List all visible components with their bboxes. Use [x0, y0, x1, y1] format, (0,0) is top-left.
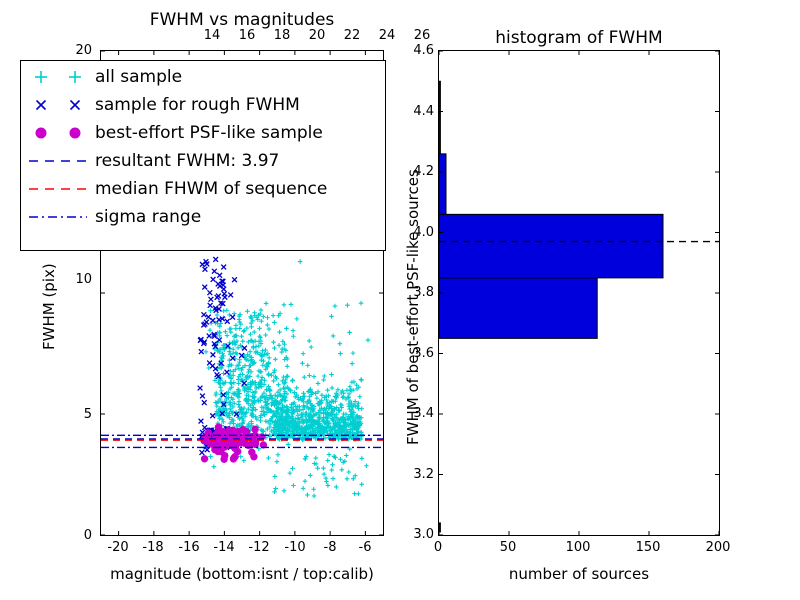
histogram-plot-title: histogram of FWHM	[438, 28, 720, 48]
dashed-line-red-icon	[21, 175, 95, 203]
scatter-y-tick-5: 5	[62, 407, 92, 422]
bottom-tick-2: -16	[169, 540, 209, 555]
bottom-tick-0: -20	[98, 540, 138, 555]
scatter-bottom-axis-ticks: -20 -18 -16 -14 -12 -10 -8 -6	[100, 540, 384, 558]
scatter-y-axis-label: FWHM (pix)	[40, 263, 58, 350]
bottom-tick-6: -8	[310, 540, 350, 555]
hist-y-tick-4.6: 4.6	[392, 43, 434, 58]
histogram-x-axis-label: number of sources	[438, 565, 720, 583]
scatter-y-tick-10: 10	[62, 272, 92, 287]
dashdot-line-icon	[21, 203, 95, 231]
bottom-tick-3: -14	[204, 540, 244, 555]
histogram-y-axis-label: FWHM of best-effort PSF-like sources	[404, 169, 422, 445]
top-tick-2: 18	[267, 28, 297, 43]
top-tick-0: 14	[197, 28, 227, 43]
legend-entry-median-fwhm: median FHWM of sequence	[21, 175, 385, 203]
legend-entry-all-sample: all sample	[21, 63, 385, 91]
hist-x-tick-100: 100	[558, 540, 598, 555]
histogram-plot-data	[439, 51, 719, 535]
top-tick-4: 22	[337, 28, 367, 43]
bottom-tick-4: -12	[239, 540, 279, 555]
hist-x-tick-0: 0	[418, 540, 458, 555]
scatter-y-top-tick: 20	[62, 43, 92, 58]
histogram-x-axis-ticks: 0 50 100 150 200	[438, 540, 720, 558]
cross-marker-icon	[21, 91, 95, 119]
scatter-x-axis-label: magnitude (bottom:isnt / top:calib)	[80, 565, 404, 583]
legend-label-sigma-range: sigma range	[95, 207, 201, 227]
hist-x-tick-150: 150	[628, 540, 668, 555]
legend: all sample sample for rough FWHM best-ef…	[20, 60, 386, 251]
legend-entry-psf-like: best-effort PSF-like sample	[21, 119, 385, 147]
legend-entry-rough-fwhm: sample for rough FWHM	[21, 91, 385, 119]
plus-marker-icon	[21, 63, 95, 91]
circle-marker-icon	[21, 119, 95, 147]
figure-canvas: FWHM vs magnitudes 14 16 18 20 22 24 26 …	[0, 0, 800, 600]
legend-entry-sigma-range: sigma range	[21, 203, 385, 231]
hist-x-tick-200: 200	[698, 540, 738, 555]
legend-label-resultant-fwhm: resultant FWHM: 3.97	[95, 151, 279, 171]
legend-label-psf-like: best-effort PSF-like sample	[95, 123, 323, 143]
scatter-y-tick-0: 0	[62, 528, 92, 543]
top-tick-1: 16	[232, 28, 262, 43]
legend-label-median-fwhm: median FHWM of sequence	[95, 179, 327, 199]
bottom-tick-7: -6	[345, 540, 385, 555]
hist-y-tick-4.4: 4.4	[392, 104, 434, 119]
legend-label-all-sample: all sample	[95, 67, 182, 87]
legend-entry-resultant-fwhm: resultant FWHM: 3.97	[21, 147, 385, 175]
top-tick-5: 24	[372, 28, 402, 43]
bottom-tick-1: -18	[133, 540, 173, 555]
legend-label-rough-fwhm: sample for rough FWHM	[95, 95, 300, 115]
scatter-plot-title: FWHM vs magnitudes	[100, 10, 384, 30]
dashed-line-blue-icon	[21, 147, 95, 175]
hist-y-tick-3.2: 3.2	[392, 467, 434, 482]
histogram-plot-axes	[438, 50, 720, 536]
bottom-tick-5: -10	[275, 540, 315, 555]
top-tick-3: 20	[302, 28, 332, 43]
scatter-top-axis-ticks: 14 16 18 20 22 24 26	[100, 28, 384, 44]
hist-x-tick-50: 50	[488, 540, 528, 555]
top-tick-6: 26	[407, 28, 437, 43]
